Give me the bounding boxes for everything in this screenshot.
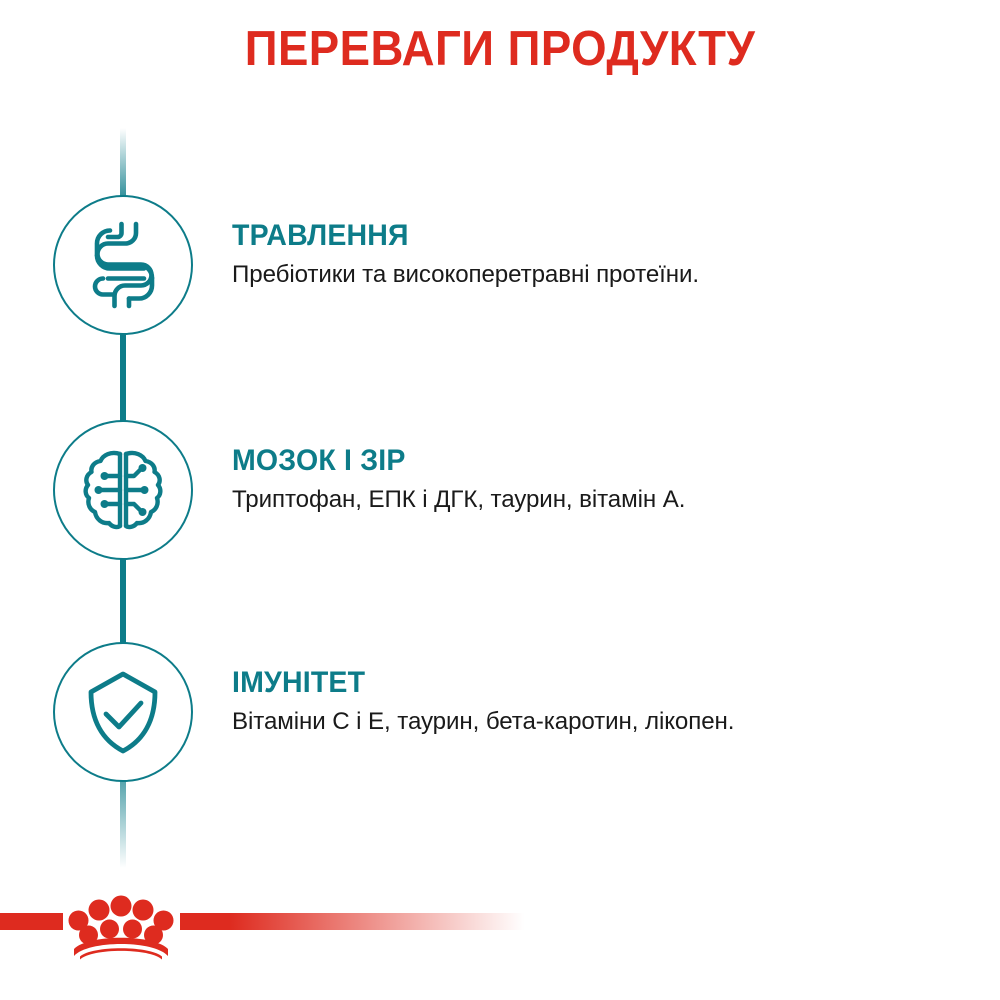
benefit-text-brain-vision: МОЗОК І ЗІР Триптофан, ЕПК і ДГК, таурин… [232, 443, 972, 517]
benefit-text-immunity: ІМУНІТЕТ Вітаміни С і Е, таурин, бета-ка… [232, 665, 972, 739]
footer-bar-right [180, 913, 1000, 930]
benefit-heading: ІМУНІТЕТ [232, 665, 935, 701]
intestine-icon [53, 195, 193, 335]
footer [0, 890, 1000, 1000]
page-title: ПЕРЕВАГИ ПРОДУКТУ [35, 18, 965, 80]
benefit-item-immunity: ІМУНІТЕТ Вітаміни С і Е, таурин, бета-ка… [0, 637, 1000, 787]
benefit-item-brain-vision: МОЗОК І ЗІР Триптофан, ЕПК і ДГК, таурин… [0, 415, 1000, 565]
product-benefits-page: ПЕРЕВАГИ ПРОДУКТУ ТРАВЛЕННЯ [0, 0, 1000, 1000]
benefit-heading: ТРАВЛЕННЯ [232, 218, 935, 254]
brain-circuit-icon [53, 420, 193, 560]
benefit-text-digestion: ТРАВЛЕННЯ Пребіотики та високоперетравні… [232, 218, 972, 292]
benefit-description: Триптофан, ЕПК і ДГК, таурин, вітамін А. [232, 483, 961, 517]
footer-bar-left [0, 913, 63, 930]
benefit-description: Вітаміни С і Е, таурин, бета-каротин, лі… [232, 705, 961, 739]
benefit-item-digestion: ТРАВЛЕННЯ Пребіотики та високоперетравні… [0, 190, 1000, 340]
royal-canin-crown-logo [68, 890, 174, 960]
benefit-description: Пребіотики та високоперетравні протеїни. [232, 258, 961, 292]
shield-check-icon [53, 642, 193, 782]
benefit-heading: МОЗОК І ЗІР [232, 443, 935, 479]
